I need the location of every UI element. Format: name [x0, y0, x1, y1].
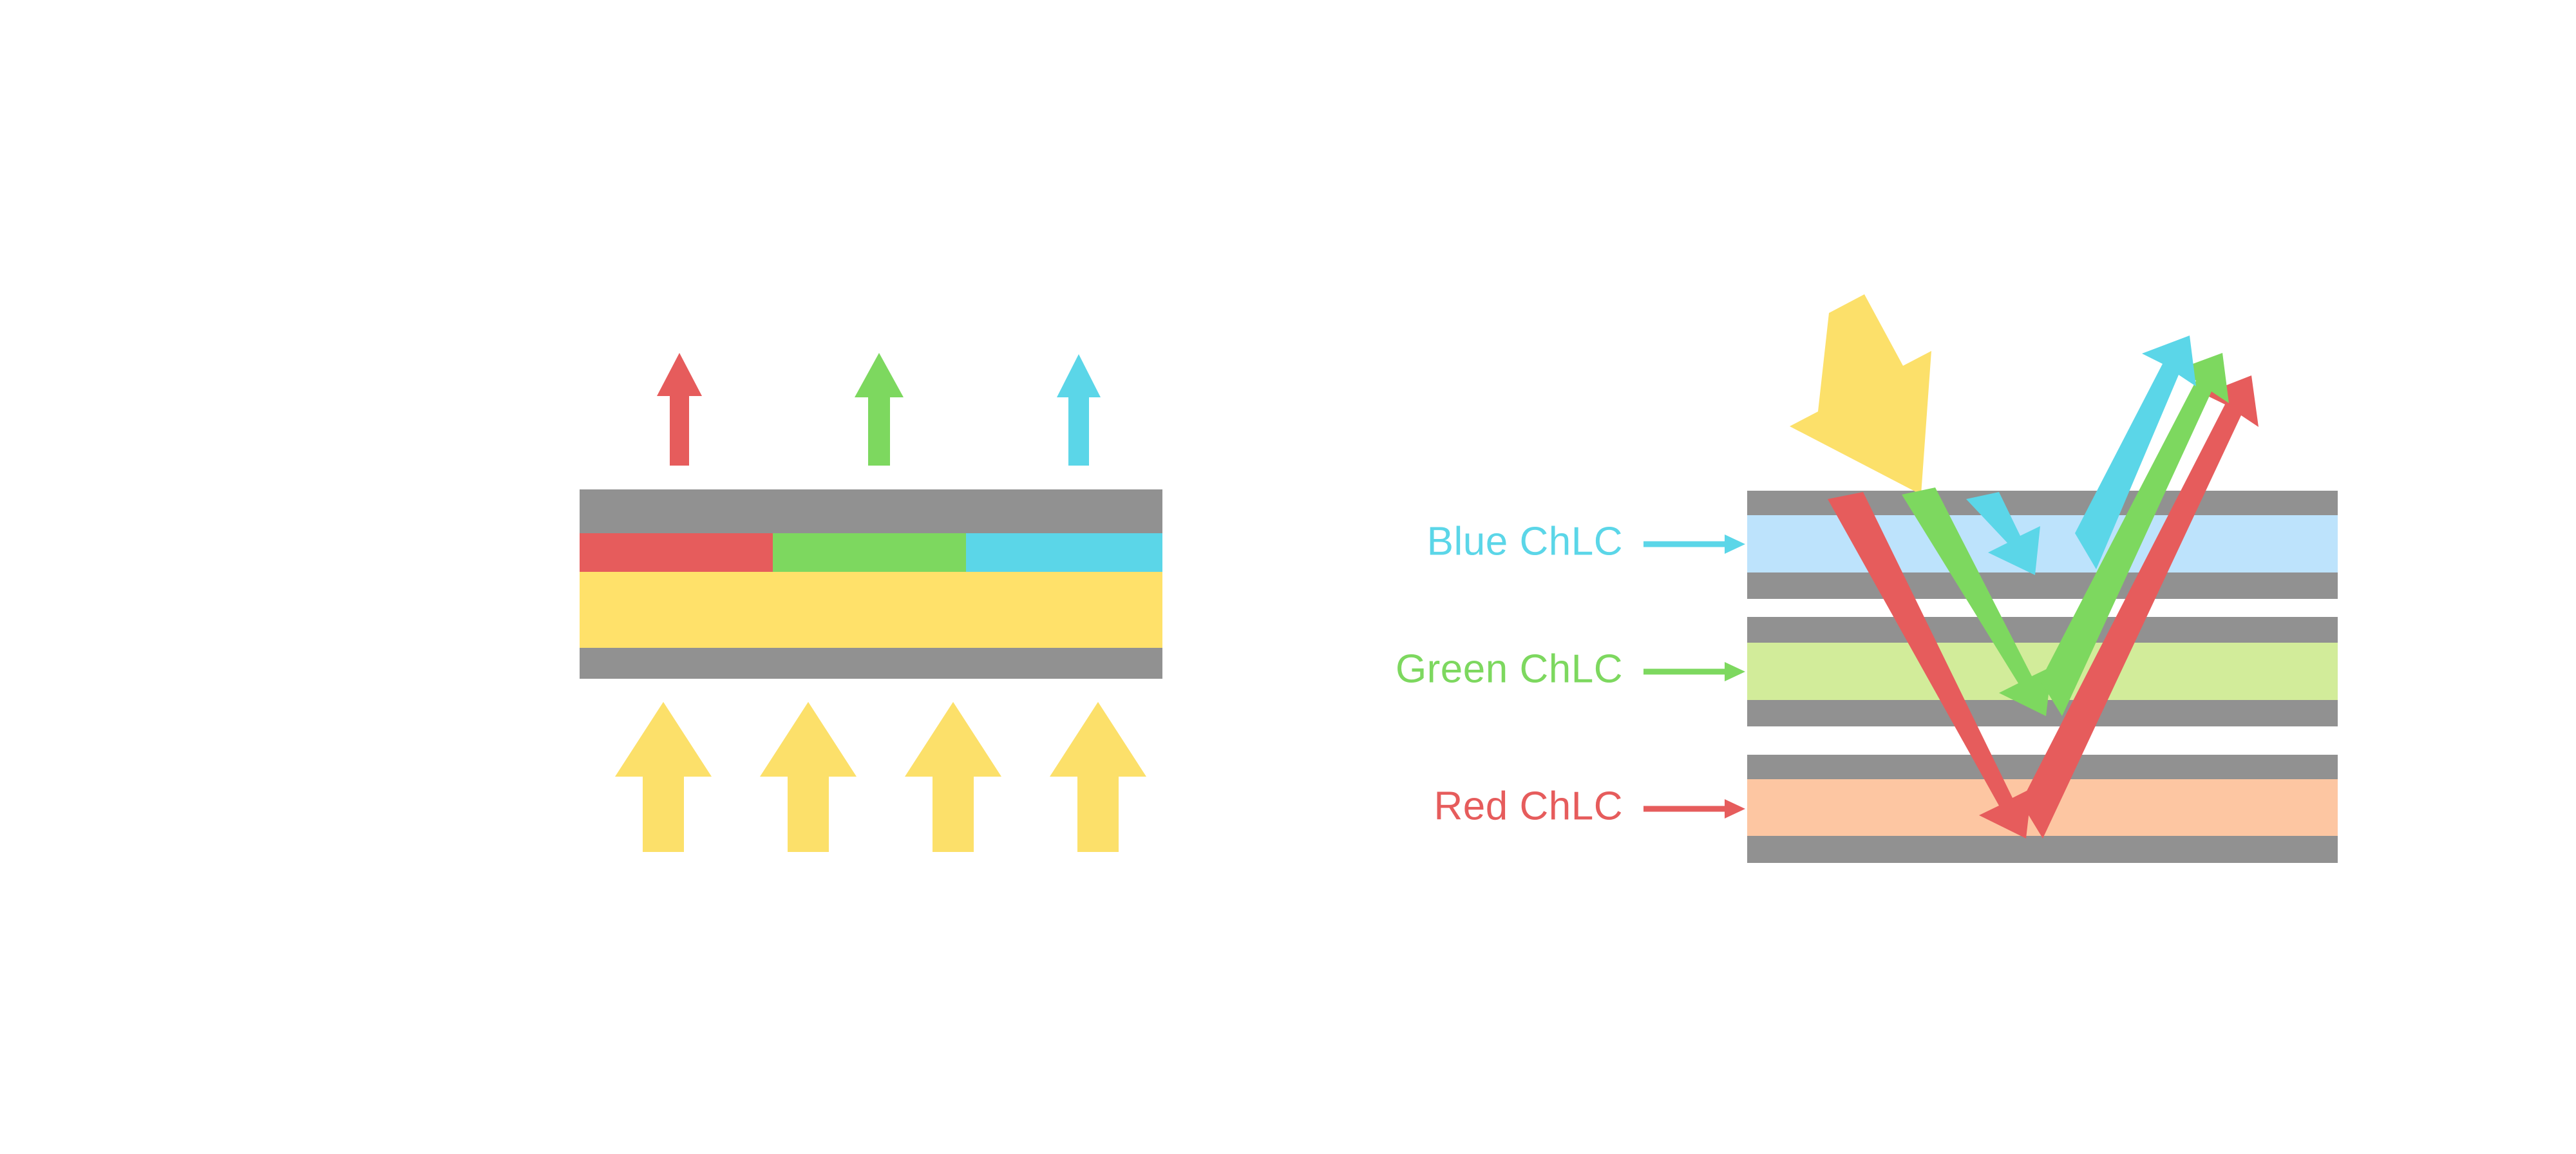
green-chlc-label: Green ChLC	[1396, 647, 1745, 691]
figure-canvas: Blue ChLC Green ChLC Red ChLC	[0, 0, 2576, 1154]
blue-emission-arrow	[1057, 354, 1101, 466]
red-emission-arrow	[657, 353, 702, 466]
right-panel-stacked-chlc-reflection: Blue ChLC Green ChLC Red ChLC	[1396, 294, 2338, 863]
blue-cell-bottom-electrode	[1747, 572, 2338, 599]
red-label-pointer-arrow-icon	[1643, 799, 1745, 818]
yellow-backlight-layer	[580, 572, 1162, 648]
green-emission-arrow	[855, 353, 904, 466]
green-chlc-label-text: Green ChLC	[1396, 647, 1623, 691]
blue-filter-segment	[966, 533, 1162, 572]
chlc-display-diagram: Blue ChLC Green ChLC Red ChLC	[0, 0, 2576, 1154]
red-chlc-label-text: Red ChLC	[1434, 784, 1623, 828]
incident-white-light-arrow	[1790, 294, 1931, 495]
backlight-arrow-4	[1050, 702, 1146, 852]
blue-label-pointer-arrow-icon	[1643, 534, 1745, 554]
left-backlight-arrow-group	[615, 702, 1146, 852]
backlight-arrow-2	[760, 702, 857, 852]
left-panel-transmissive-color-stack	[580, 353, 1162, 852]
blue-chlc-label: Blue ChLC	[1427, 519, 1745, 563]
blue-chlc-layer	[1747, 515, 2338, 572]
left-top-emission-arrow-group	[657, 353, 1101, 466]
left-stack	[580, 489, 1162, 679]
red-cell-bottom-electrode	[1747, 836, 2338, 863]
blue-chlc-label-text: Blue ChLC	[1427, 519, 1623, 563]
bottom-gray-substrate	[580, 648, 1162, 679]
green-cell-top-electrode	[1747, 617, 2338, 643]
green-filter-segment	[773, 533, 966, 572]
backlight-arrow-3	[905, 702, 1001, 852]
red-filter-segment	[580, 533, 773, 572]
top-gray-substrate	[580, 489, 1162, 533]
green-label-pointer-arrow-icon	[1643, 662, 1745, 681]
backlight-arrow-1	[615, 702, 712, 852]
red-chlc-label: Red ChLC	[1434, 784, 1745, 828]
